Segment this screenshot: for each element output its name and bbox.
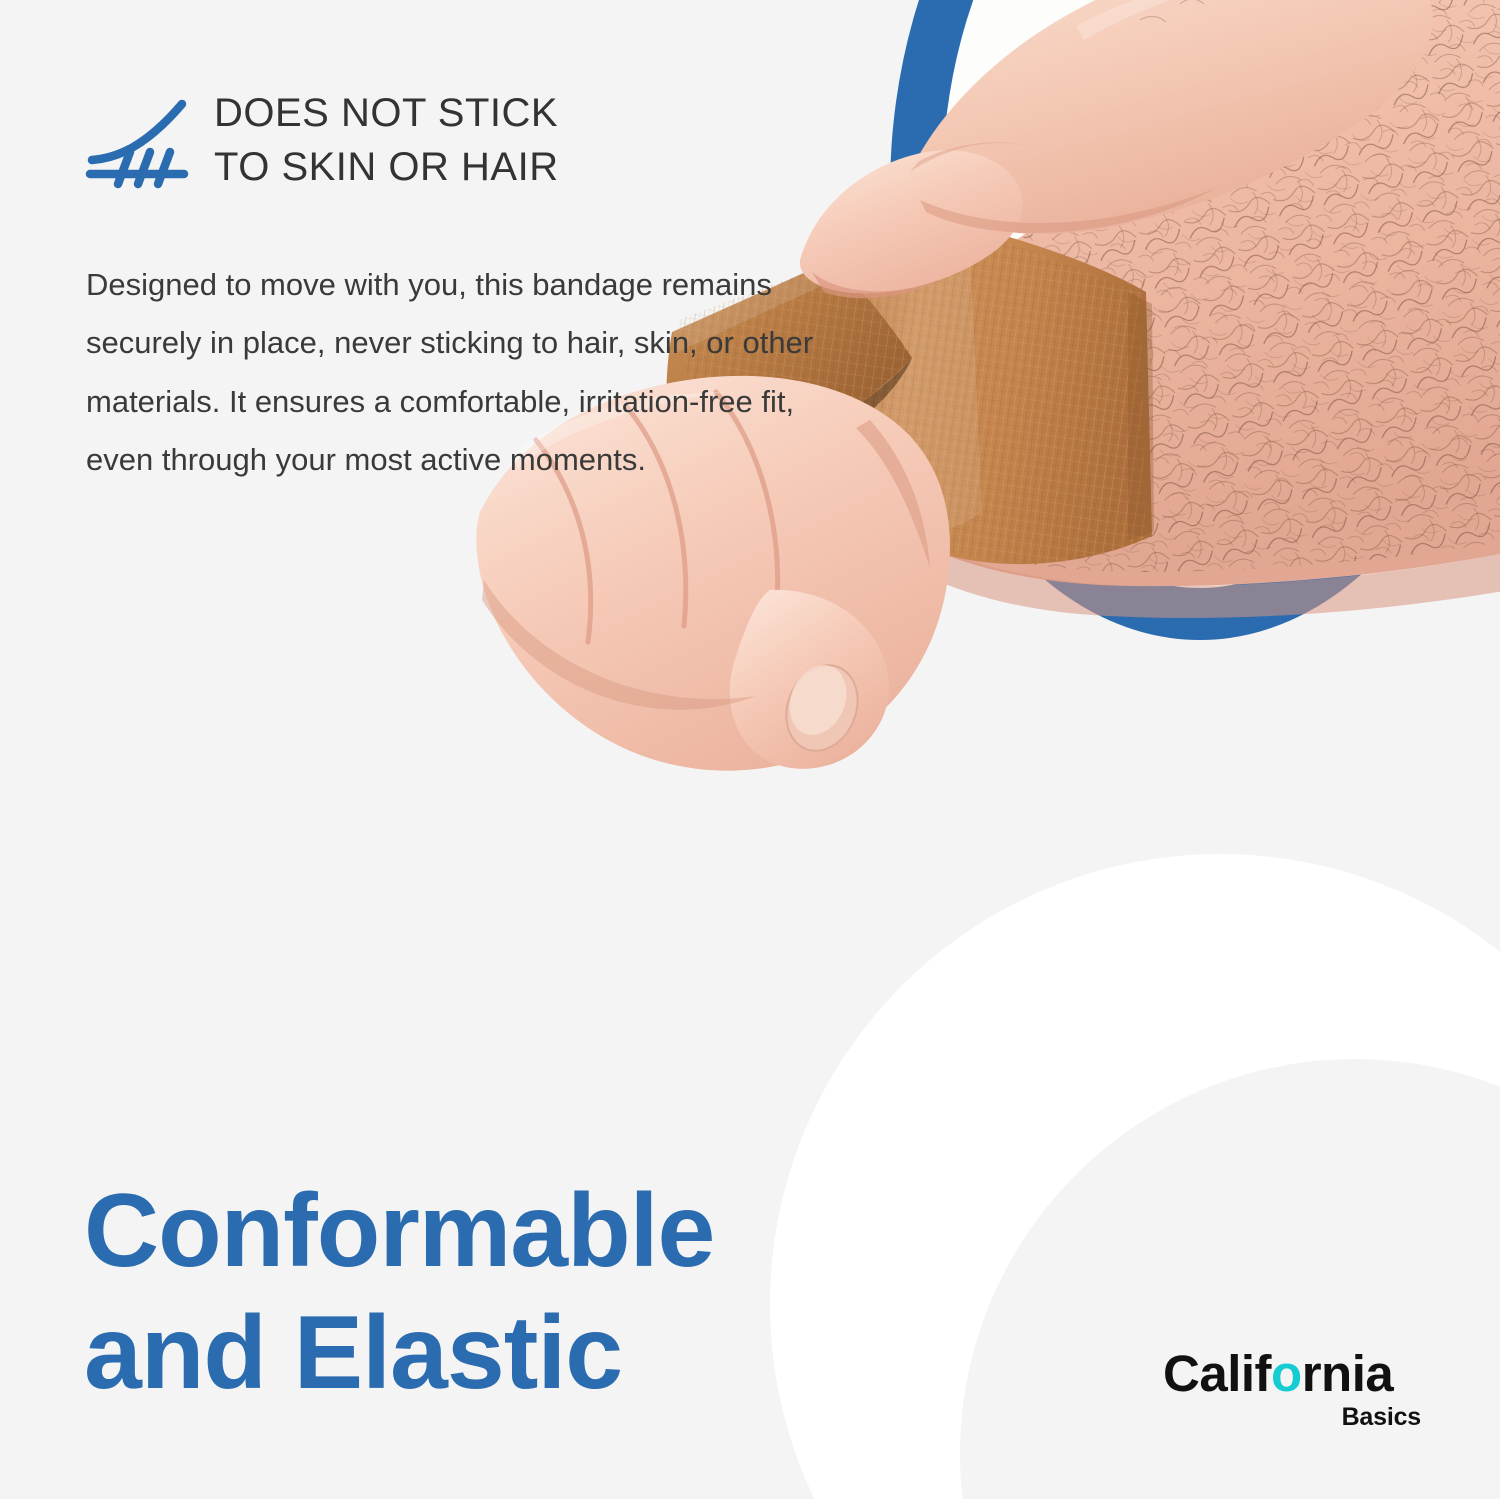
brand-subtitle: Basics [1163,1405,1421,1430]
page-headline: Conformable and Elastic [84,1170,964,1415]
product-feature-banner: DOES NOT STICK TO SKIN OR HAIR Designed … [0,0,1500,1499]
feature-heading-block: DOES NOT STICK TO SKIN OR HAIR [84,86,784,194]
feature-description: Designed to move with you, this bandage … [86,256,846,489]
brand-logo: California Basics [1163,1348,1425,1448]
brand-name-part-1: Calif [1163,1345,1271,1402]
brand-name-part-2: rnia [1302,1345,1394,1402]
brand-name-teal-o: o [1271,1345,1302,1402]
feature-title: DOES NOT STICK TO SKIN OR HAIR [214,86,559,194]
no-stick-to-hair-icon [84,94,190,190]
product-photo-stage [830,0,1500,780]
brand-name: California [1163,1348,1425,1399]
